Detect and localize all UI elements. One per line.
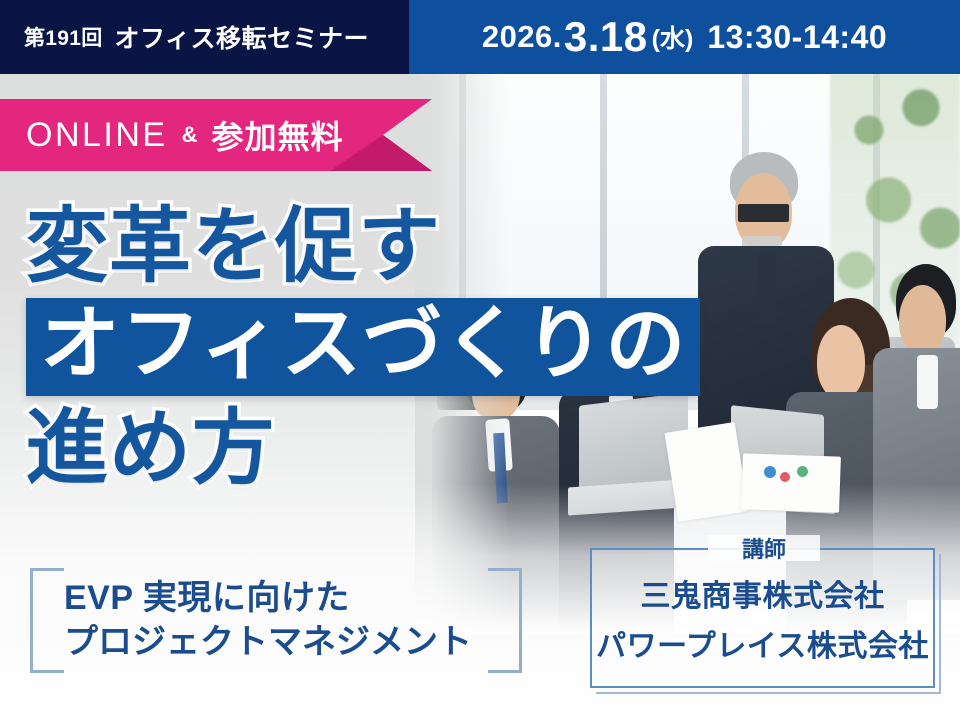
speaker-companies: 三鬼商事株式会社 パワープレイス株式会社 (590, 548, 935, 688)
speaker-box: 講師 三鬼商事株式会社 パワープレイス株式会社 (590, 548, 935, 688)
date-day: 3.18 (564, 16, 648, 58)
seminar-time-range: 13:30-14:40 (707, 19, 887, 56)
seminar-banner: 第191回 オフィス移転セミナー 2026. 3.18 (水) 13:30-14… (0, 0, 960, 720)
seminar-title: オフィス移転セミナー (115, 19, 370, 55)
free-admission-label: 参加無料 (211, 112, 343, 158)
main-headline: 変革を促す オフィスづくりの 進め方 (26, 206, 700, 490)
seminar-datetime-group: 2026. 3.18 (水) 13:30-14:40 (409, 0, 960, 74)
online-label: ONLINE (26, 116, 168, 155)
subtitle-line-1: EVP 実現に向けた (64, 578, 488, 619)
headline-line-1: 変革を促す (26, 206, 700, 288)
ribbon-text-group: ONLINE & 参加無料 (0, 99, 390, 171)
banner-header: 第191回 オフィス移転セミナー 2026. 3.18 (水) 13:30-14… (0, 0, 960, 74)
speaker-company-1: 三鬼商事株式会社 (641, 571, 885, 615)
headline-line-3: 進め方 (26, 408, 700, 490)
subtitle-line-2: プロジェクトマネジメント (64, 622, 488, 663)
seminar-number: 第191回 (24, 22, 103, 52)
date-year: 2026. (482, 19, 562, 55)
bracket-right-icon (488, 568, 522, 673)
subtitle-block: EVP 実現に向けた プロジェクトマネジメント (30, 568, 522, 673)
headline-line-2: オフィスづくりの (26, 298, 700, 396)
date-weekday: (水) (652, 19, 694, 55)
speaker-company-2: パワープレイス株式会社 (596, 621, 929, 665)
subtitle-text-group: EVP 実現に向けた プロジェクトマネジメント (64, 568, 488, 673)
ampersand-label: & (182, 122, 198, 148)
seminar-title-group: 第191回 オフィス移転セミナー (24, 0, 369, 74)
bracket-left-icon (30, 568, 64, 673)
headline-line-2-wrap: オフィスづくりの (26, 288, 700, 396)
